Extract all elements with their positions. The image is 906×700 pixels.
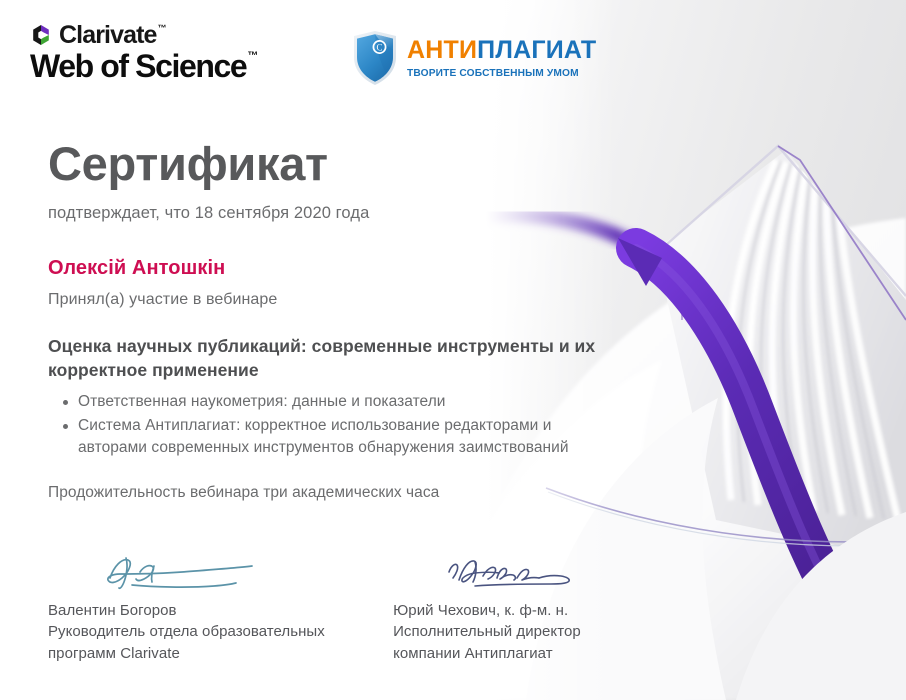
antiplagiat-shield-icon: C: [352, 30, 398, 86]
web-of-science-text: Web of Science: [30, 48, 246, 84]
topics-list: Ответственная наукометрия: данные и пока…: [48, 391, 608, 459]
signature-chekhovich: [441, 552, 648, 600]
web-of-science-trademark: ™: [247, 50, 258, 62]
clarivate-mark-icon: [30, 24, 52, 46]
web-of-science-logo: Clarivate™ Web of Science™: [30, 22, 330, 84]
clarivate-word-text: Clarivate: [59, 21, 157, 49]
signature-bogorov: [96, 552, 393, 600]
web-of-science-wordmark: Web of Science™: [30, 50, 330, 84]
recipient-name: Олексій Антошкін: [48, 257, 608, 280]
signer-role-line-1: Исполнительный директор: [393, 621, 648, 642]
signature-block-bogorov: Валентин Богоров Руководитель отдела обр…: [48, 552, 393, 664]
certificate-page: Clarivate™ Web of Science™: [0, 0, 906, 700]
clarivate-wordmark: Clarivate™: [59, 23, 166, 48]
signer-role-line-1: Руководитель отдела образовательных: [48, 621, 393, 642]
list-item: Система Антиплагиат: корректное использо…: [78, 415, 608, 460]
signer-name: Юрий Чехович, к. ф-м. н.: [393, 600, 648, 621]
antiplagiat-word-plagiat: ПЛАГИАТ: [477, 36, 596, 64]
signatures-row: Валентин Богоров Руководитель отдела обр…: [48, 552, 648, 664]
certificate-title: Сертификат: [48, 138, 608, 191]
certificate-body: Сертификат подтверждает, что 18 сентября…: [48, 138, 608, 502]
antiplagiat-logo: C АНТИПЛАГИАТ ТВОРИТЕ СОБСТВЕННЫМ УМОМ: [352, 30, 596, 86]
participation-line: Принял(а) участие в вебинаре: [48, 291, 608, 309]
signer-name: Валентин Богоров: [48, 600, 393, 621]
header-logos: Clarivate™ Web of Science™: [30, 22, 330, 84]
webinar-title: Оценка научных публикаций: современные и…: [48, 334, 608, 384]
signature-block-chekhovich: Юрий Чехович, к. ф-м. н. Исполнительный …: [393, 552, 648, 664]
clarivate-lockup: Clarivate™: [30, 22, 330, 48]
svg-text:C: C: [376, 43, 382, 53]
antiplagiat-wordmark: АНТИПЛАГИАТ: [407, 36, 596, 64]
antiplagiat-word-anti: АНТИ: [407, 36, 477, 64]
signer-role-line-2: программ Clarivate: [48, 643, 393, 664]
antiplagiat-tagline: ТВОРИТЕ СОБСТВЕННЫМ УМОМ: [407, 68, 579, 79]
certificate-subtitle: подтверждает, что 18 сентября 2020 года: [48, 204, 608, 223]
signer-role-line-2: компании Антиплагиат: [393, 643, 648, 664]
antiplagiat-text: АНТИПЛАГИАТ ТВОРИТЕ СОБСТВЕННЫМ УМОМ: [407, 35, 596, 81]
duration-line: Продожительность вебинара три академичес…: [48, 484, 608, 502]
clarivate-trademark: ™: [158, 23, 167, 33]
list-item: Ответственная наукометрия: данные и пока…: [78, 391, 608, 413]
